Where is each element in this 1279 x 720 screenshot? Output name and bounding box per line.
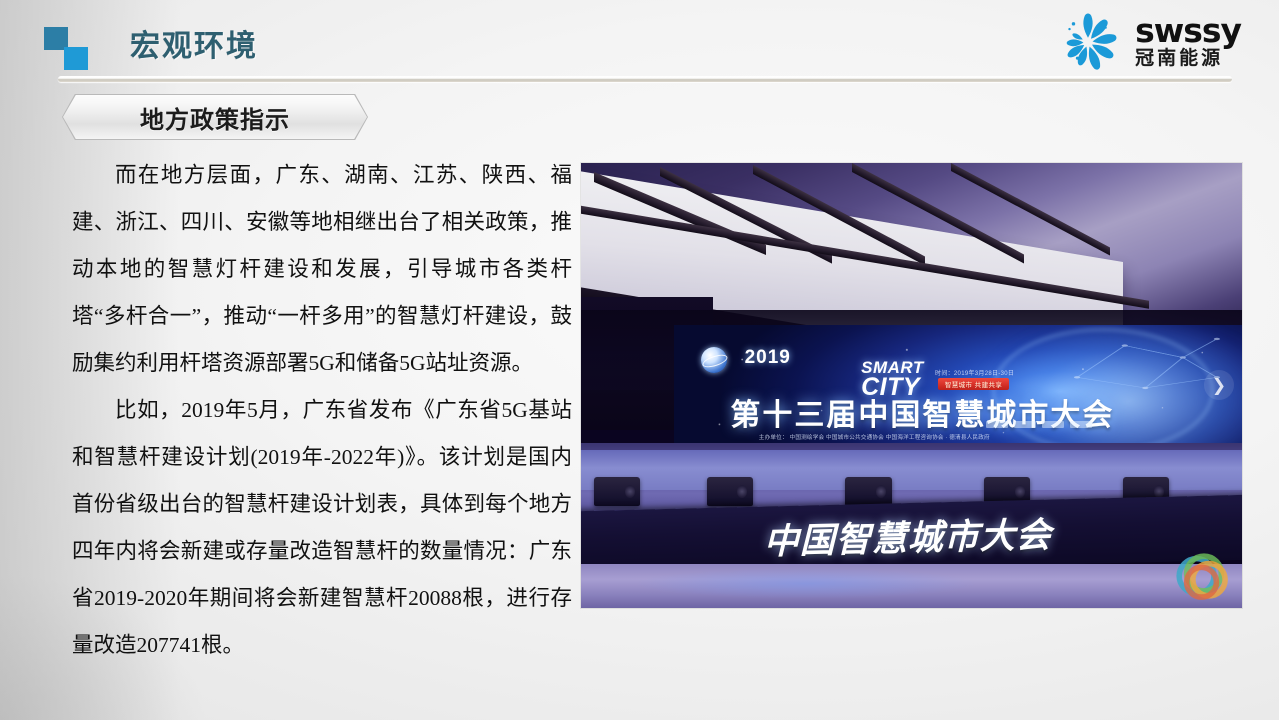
screen-slogan-badge: 智慧城市 共建共享 xyxy=(938,378,1009,390)
sponsor-logo-icon xyxy=(1042,421,1064,428)
colored-rings-logo-icon xyxy=(1173,545,1235,607)
header-divider xyxy=(58,76,1232,82)
sponsor-logo-icon xyxy=(986,421,1008,428)
photo-next-arrow-icon[interactable]: ❯ xyxy=(1204,370,1234,400)
sponsor-logo-icon xyxy=(1014,421,1036,428)
water-droplet-flower-icon xyxy=(1053,8,1123,74)
decor-square-bottom-icon xyxy=(64,47,88,70)
stage-monitor-speaker xyxy=(707,477,753,506)
paragraph-2: 比如，2019年5月，广东省发布《广东省5G基站和智慧杆建设计划(2019年-2… xyxy=(72,387,572,669)
screen-sponsor-logos xyxy=(986,421,1092,428)
brand-subtitle: 冠南能源 xyxy=(1135,49,1241,68)
brand-text: swssy 冠南能源 xyxy=(1135,14,1241,68)
slide-canvas: 宏观环境 地方政策指示 xyxy=(0,0,1279,720)
screen-event-date: 时间：2019年3月28日-30日 xyxy=(935,368,1014,377)
conference-photo: 2019 SMART CITY 时间：2019年3月28日-30日 智慧城市 共… xyxy=(581,163,1242,608)
brand-name: swssy xyxy=(1135,14,1241,47)
section-ribbon-label: 地方政策指示 xyxy=(62,94,368,140)
brand-logo: swssy 冠南能源 xyxy=(1053,8,1241,74)
sponsor-logo-icon xyxy=(1070,421,1092,428)
stage-monitor-speaker xyxy=(845,477,891,506)
page-title: 宏观环境 xyxy=(130,21,258,65)
stage-monitor-speaker xyxy=(594,477,640,506)
screen-credit-line-1: 主办单位： 中国测绘学会 中国城市公共交通协会 中国海洋工程咨询协会 · 德清县… xyxy=(759,434,1180,443)
section-ribbon: 地方政策指示 xyxy=(62,94,368,140)
screen-year: 2019 xyxy=(745,347,791,369)
header-decor-squares xyxy=(44,27,94,71)
photo-venue-floor xyxy=(581,564,1242,609)
paragraph-1: 而在地方层面，广东、湖南、江苏、陕西、福建、浙江、四川、安徽等地相继出台了相关政… xyxy=(72,152,572,387)
body-text: 而在地方层面，广东、湖南、江苏、陕西、福建、浙江、四川、安徽等地相继出台了相关政… xyxy=(72,152,572,669)
